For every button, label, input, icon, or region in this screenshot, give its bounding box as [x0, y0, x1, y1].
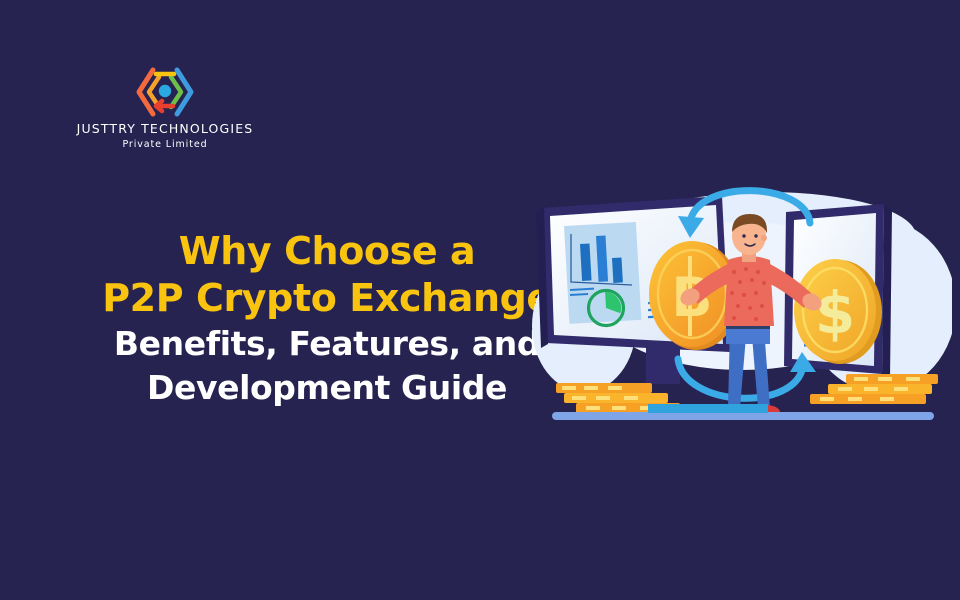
brand-company-name: JUSTTRY TECHNOLOGIES: [70, 122, 260, 136]
brand-company-suffix: Private Limited: [70, 139, 260, 150]
p2p-crypto-exchange-illustration: B $: [528, 176, 952, 444]
justtry-hexagon-logo-mark-icon: [132, 66, 198, 118]
brand-logo[interactable]: JUSTTRY TECHNOLOGIES Private Limited: [70, 66, 260, 150]
headline-line-2: P2P Crypto Exchange: [92, 275, 562, 322]
banner-root: JUSTTRY TECHNOLOGIES Private Limited Why…: [0, 0, 960, 600]
headline-line-3: Benefits, Features, and: [92, 322, 562, 366]
illustration-svg: B $: [528, 176, 952, 444]
headline-line-1: Why Choose a: [92, 228, 562, 275]
gold-coin-stacks-right: [810, 374, 938, 404]
svg-text:$: $: [815, 279, 855, 347]
headline-line-4: Development Guide: [92, 366, 562, 410]
headline-block: Why Choose a P2P Crypto Exchange Benefit…: [92, 228, 562, 410]
